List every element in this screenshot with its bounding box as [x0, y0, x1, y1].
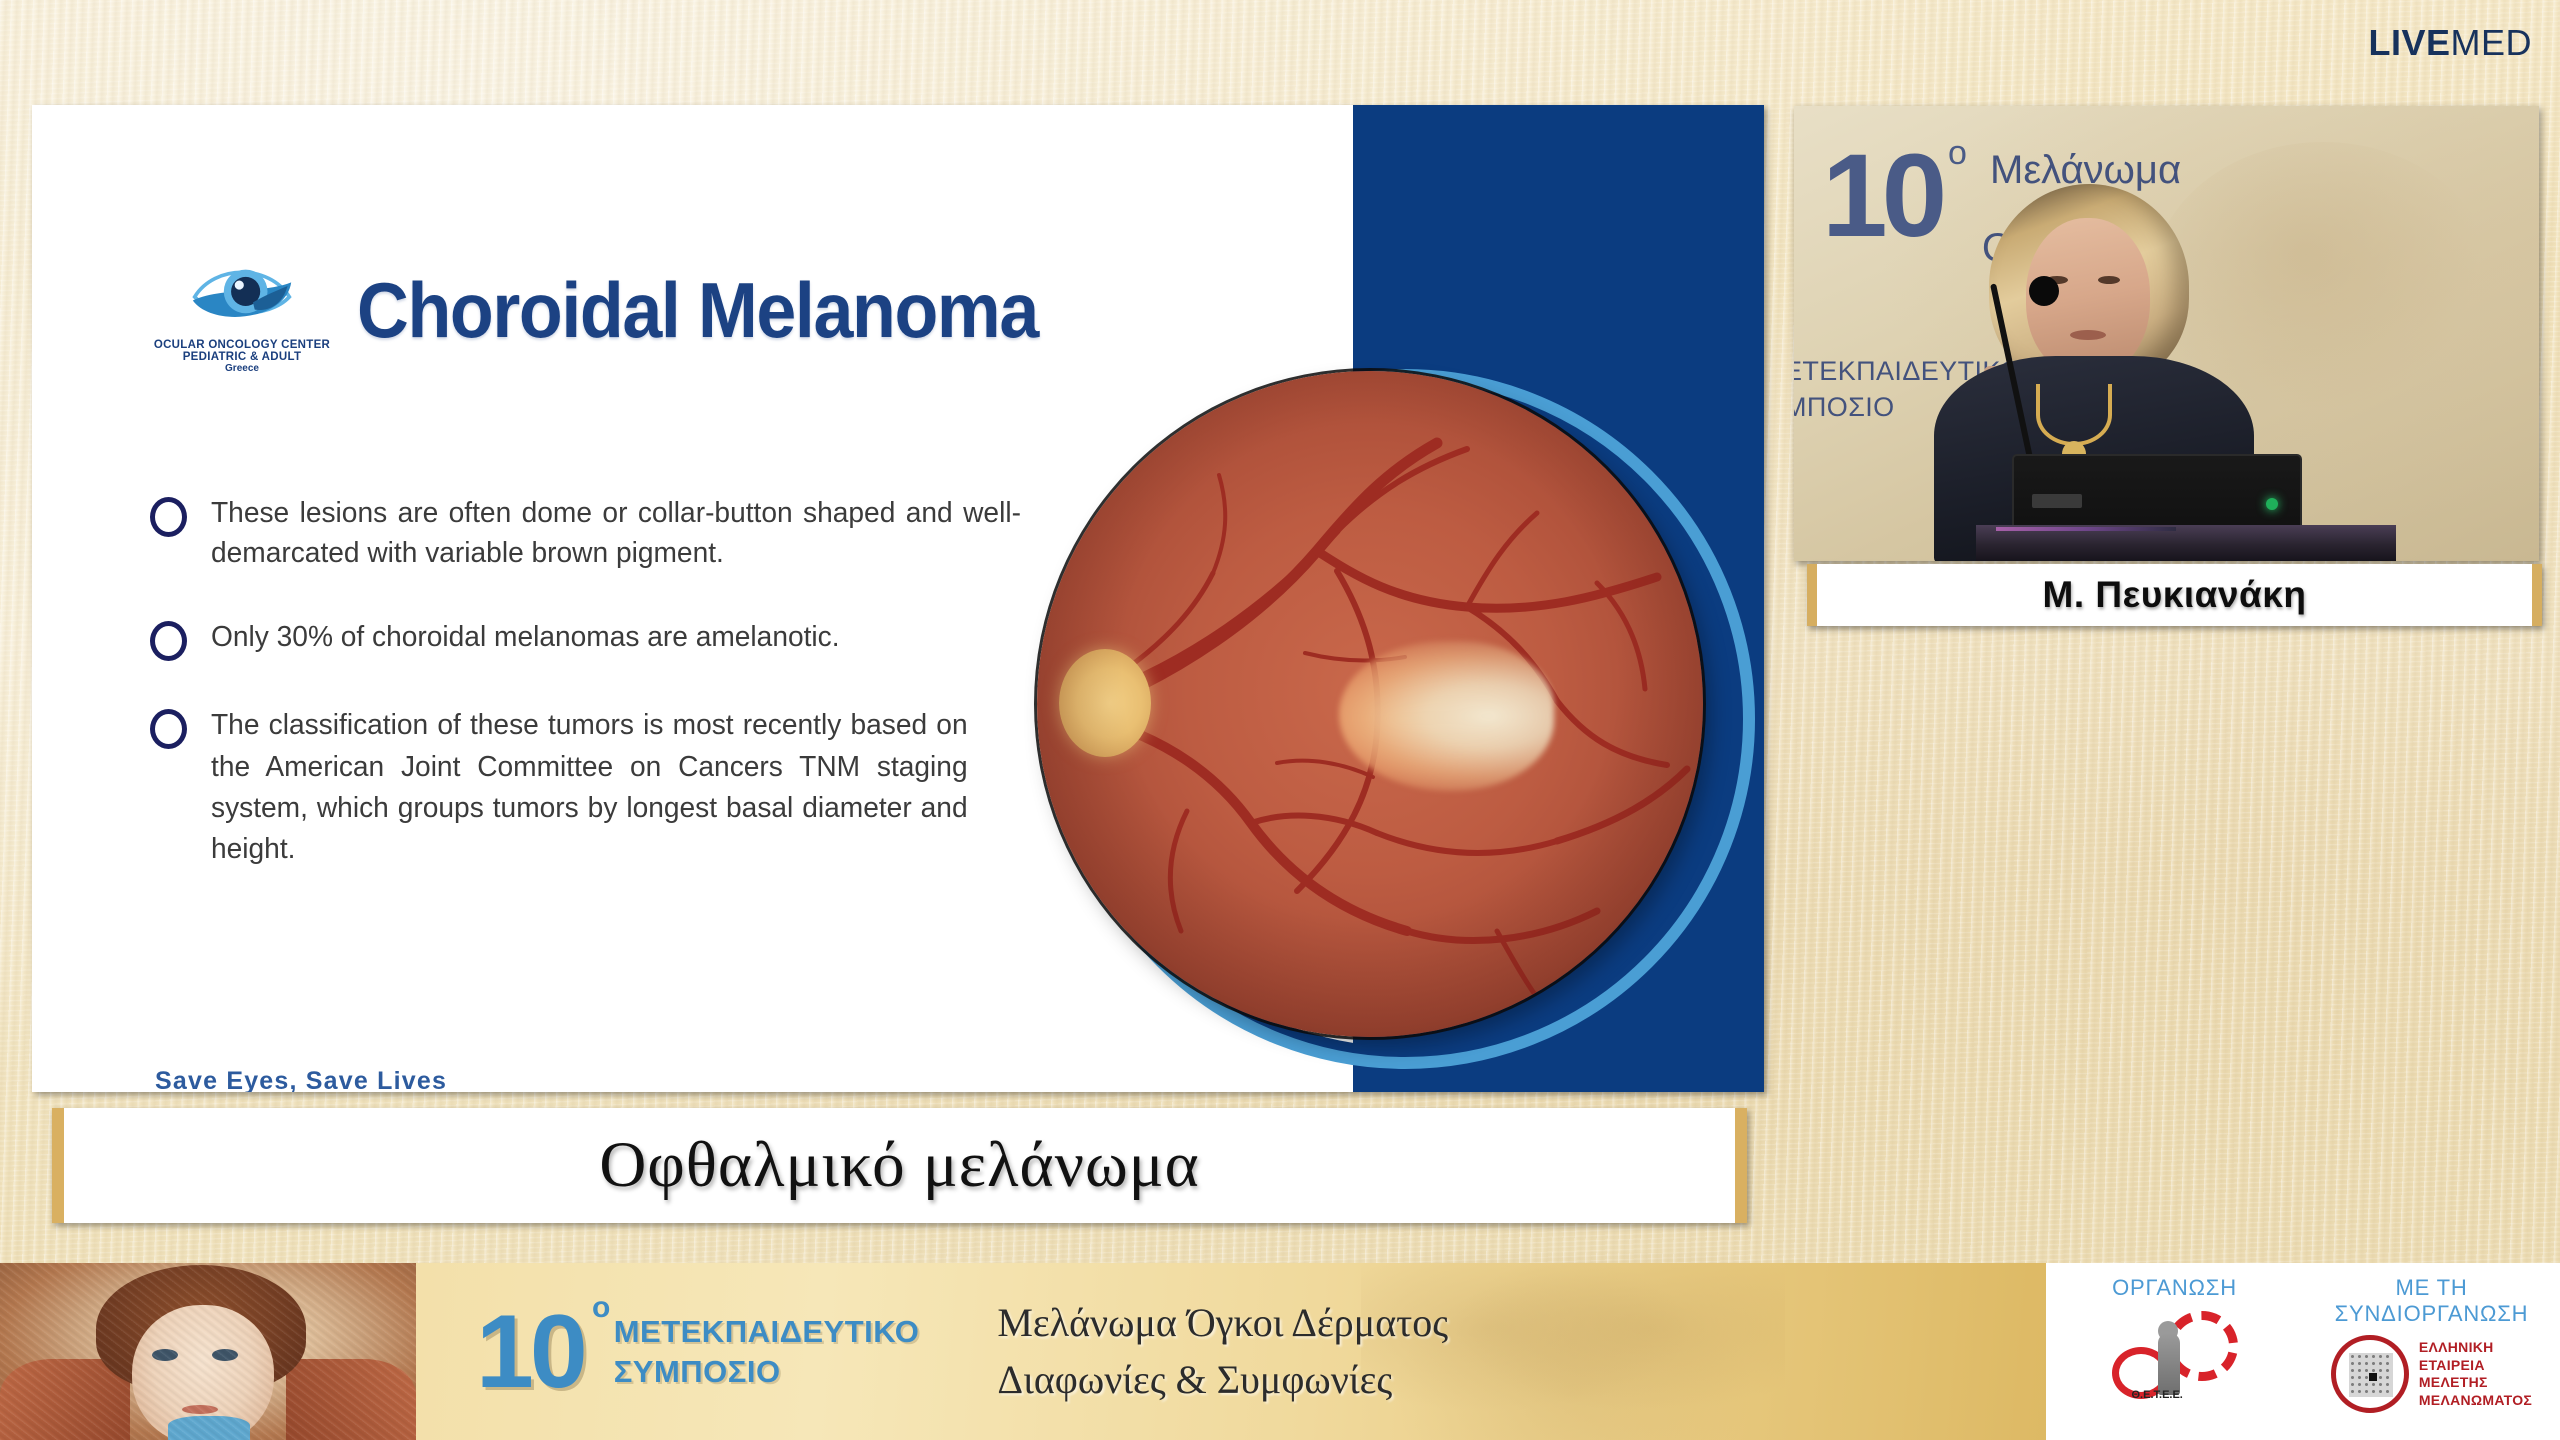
bullet-ring-icon: [150, 709, 187, 749]
artwork-face: [132, 1305, 274, 1440]
slide-title: Choroidal Melanoma: [357, 265, 1038, 356]
bullet-ring-icon: [150, 621, 187, 661]
organiser-figure-body: [2158, 1333, 2180, 1395]
bullet-item: Only 30% of choroidal melanomas are amel…: [150, 617, 1050, 661]
footer-theme-line2: Διαφωνίες & Συμφωνίες: [997, 1352, 1448, 1409]
livemed-logo: LIVEMED: [2368, 22, 2532, 64]
desk-light: [1996, 527, 2176, 531]
artwork-shoulder-left: [0, 1359, 130, 1440]
footer-artwork: [0, 1263, 416, 1440]
bullet-list: These lesions are often dome or collar-b…: [150, 493, 1050, 915]
artwork-collar: [168, 1416, 250, 1440]
seal-center-dot: [2369, 1373, 2377, 1381]
fundus-vignette: [1037, 371, 1703, 1037]
bullet-text: Only 30% of choroidal melanomas are amel…: [211, 617, 1021, 657]
footer-theme: Μελάνωμα Όγκοι Δέρματος Διαφωνίες & Συμφ…: [997, 1295, 1448, 1409]
artwork-hair: [96, 1265, 306, 1393]
coorganiser-line1: ΕΛΛΗΝΙΚΗ: [2419, 1339, 2532, 1357]
footer-event-type-line2: ΣΥΜΠΟΣΙΟ: [614, 1352, 920, 1392]
organiser-caption: ΟΡΓΑΝΩΣΗ: [2046, 1275, 2303, 1301]
footer-event-type: ΜΕΤΕΚΠΑΙΔΕΥΤΙΚΟ ΣΥΜΠΟΣΙΟ: [614, 1312, 920, 1391]
bullet-ring-icon: [150, 497, 187, 537]
microphone-icon: [2029, 276, 2059, 306]
organiser-block: ΟΡΓΑΝΩΣΗ Θ.Ε.Τ.Ε.Ε.: [2046, 1263, 2303, 1440]
footer-edition-number: 10: [476, 1300, 584, 1404]
speaker-video[interactable]: 10 ο Μελάνωμα Ο...ματος & ΕΤΕΚΠΑΙΔΕΥΤΙΚΟ…: [1794, 106, 2539, 561]
coorganiser-seal-icon: [2331, 1335, 2409, 1413]
organiser-logo-icon: Θ.Ε.Τ.Ε.Ε.: [2106, 1307, 2244, 1399]
coorganiser-logo: ΕΛΛΗΝΙΚΗ ΕΤΑΙΡΕΙΑ ΜΕΛΕΤΗΣ ΜΕΛΑΝΩΜΑΤΟΣ: [2303, 1335, 2560, 1413]
speaker-name-bar: Μ. Πευκιανάκη: [1807, 564, 2542, 626]
conference-footer: 10 ο ΜΕΤΕΚΠΑΙΔΕΥΤΙΚΟ ΣΥΜΠΟΣΙΟ Μελάνωμα Ό…: [0, 1263, 2560, 1440]
bullet-text: The classification of these tumors is mo…: [211, 705, 968, 871]
presentation-slide[interactable]: OCULAR ONCOLOGY CENTER PEDIATRIC & ADULT…: [32, 105, 1764, 1092]
bullet-item: The classification of these tumors is mo…: [150, 705, 1050, 871]
footer-event-type-line1: ΜΕΤΕΚΠΑΙΔΕΥΤΙΚΟ: [614, 1312, 920, 1352]
artwork-shoulder-right: [286, 1359, 416, 1440]
coorganiser-caption: ΜΕ ΤΗ ΣΥΝΔΙΟΡΓΑΝΩΣΗ: [2303, 1275, 2560, 1327]
laptop-led-icon: [2266, 498, 2278, 510]
slide-tagline: Save Eyes, Save Lives: [155, 1067, 447, 1092]
eye-icon: [187, 255, 297, 337]
speaker-necklace: [2036, 384, 2112, 446]
organiser-abbreviation: Θ.Ε.Τ.Ε.Ε.: [2132, 1389, 2183, 1401]
backdrop-line-4: ΜΠΟΣΙΟ: [1794, 392, 1895, 423]
footer-edition-ordinal: ο: [592, 1291, 610, 1325]
laptop-logo: [2032, 494, 2082, 508]
talk-title-text: Οφθαλμικό μελάνωμα: [599, 1128, 1199, 1203]
livemed-logo-med: MED: [2451, 22, 2533, 63]
fundus-photograph: [1037, 371, 1703, 1037]
coorganiser-line3: ΜΕΛΕΤΗΣ: [2419, 1374, 2532, 1392]
talk-title-band: Οφθαλμικό μελάνωμα: [52, 1108, 1747, 1223]
logo-line-1: OCULAR ONCOLOGY CENTER: [142, 339, 342, 351]
livemed-logo-live: LIVE: [2368, 22, 2450, 63]
artwork-eye-right: [212, 1349, 238, 1361]
footer-conference-identity: 10 ο ΜΕΤΕΚΠΑΙΔΕΥΤΙΚΟ ΣΥΜΠΟΣΙΟ Μελάνωμα Ό…: [416, 1263, 2046, 1440]
fundus-photo-figure: [1037, 371, 1727, 1061]
speaker-name: Μ. Πευκιανάκη: [2043, 574, 2307, 616]
coorganiser-line2: ΕΤΑΙΡΕΙΑ: [2419, 1357, 2532, 1375]
ocular-oncology-center-logo: OCULAR ONCOLOGY CENTER PEDIATRIC & ADULT…: [142, 255, 342, 374]
bullet-item: These lesions are often dome or collar-b…: [150, 493, 1050, 573]
artwork-eye-left: [152, 1349, 178, 1361]
speaker-mouth: [2070, 330, 2106, 340]
coorganiser-line4: ΜΕΛΑΝΩΜΑΤΟΣ: [2419, 1392, 2532, 1410]
logo-line-2: PEDIATRIC & ADULT: [142, 351, 342, 363]
coorganiser-name: ΕΛΛΗΝΙΚΗ ΕΤΑΙΡΕΙΑ ΜΕΛΕΤΗΣ ΜΕΛΑΝΩΜΑΤΟΣ: [2419, 1339, 2532, 1409]
backdrop-ordinal: ο: [1948, 134, 1967, 173]
artwork-mouth: [182, 1405, 218, 1414]
coorganiser-block: ΜΕ ΤΗ ΣΥΝΔΙΟΡΓΑΝΩΣΗ ΕΛΛΗΝΙΚΗ ΕΤΑΙΡΕΙΑ ΜΕ…: [2303, 1263, 2560, 1440]
backdrop-number: 10: [1822, 128, 1941, 264]
bullet-text: These lesions are often dome or collar-b…: [211, 493, 1021, 573]
speaker-eye-right: [2098, 276, 2120, 284]
podium-desk: [1976, 525, 2396, 561]
footer-theme-line1: Μελάνωμα Όγκοι Δέρματος: [997, 1295, 1448, 1352]
logo-line-3: Greece: [142, 363, 342, 374]
footer-logos: ΟΡΓΑΝΩΣΗ Θ.Ε.Τ.Ε.Ε. ΜΕ ΤΗ ΣΥΝΔΙΟΡΓΑΝΩΣΗ …: [2046, 1263, 2560, 1440]
